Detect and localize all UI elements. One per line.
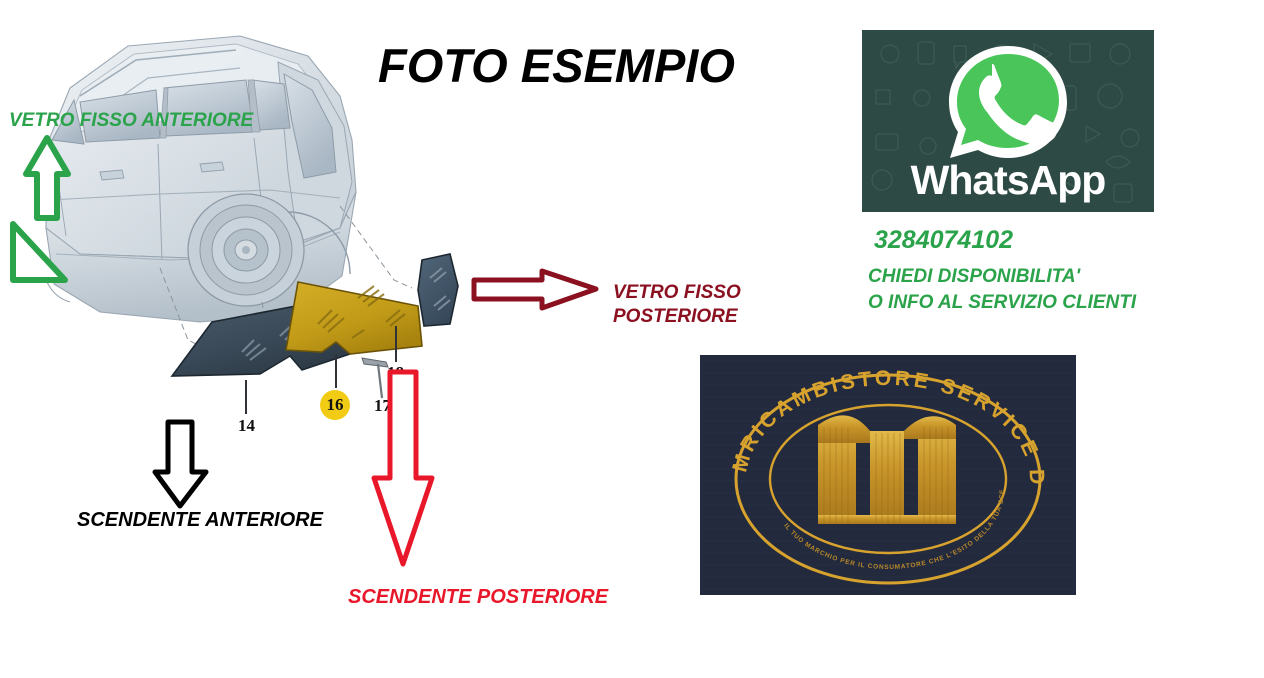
- whatsapp-wordmark: WhatsApp: [862, 157, 1154, 204]
- part-number-14: 14: [238, 416, 255, 436]
- label-scendente-anteriore: SCENDENTE ANTERIORE: [77, 509, 323, 532]
- down-arrow-black-svg: [150, 418, 212, 510]
- company-logo-mark: MRICAMBISTORE SERVICE DI RUSSO MARCO IL …: [700, 355, 1076, 595]
- whatsapp-info-line1: CHIEDI DISPONIBILITA': [868, 264, 1136, 290]
- label-vetro-fisso-posteriore-line1: VETRO FISSO: [613, 281, 741, 305]
- up-arrow-green-svg: [6, 128, 78, 288]
- right-arrow-darkred-svg: [470, 268, 600, 312]
- logo-monogram: [818, 415, 956, 524]
- down-arrow-red-svg: [368, 368, 438, 568]
- whatsapp-info-text: CHIEDI DISPONIBILITA' O INFO AL SERVIZIO…: [868, 264, 1136, 315]
- label-vetro-fisso-anteriore: VETRO FISSO ANTERIORE: [9, 110, 253, 132]
- whatsapp-info-line2: O INFO AL SERVIZIO CLIENTI: [868, 290, 1136, 316]
- glass-part-16: [286, 282, 422, 354]
- down-arrow-black: [150, 418, 212, 510]
- triangle-green: [13, 224, 65, 280]
- label-scendente-posteriore: SCENDENTE POSTERIORE: [348, 586, 608, 609]
- up-arrow-green: [6, 128, 78, 288]
- down-arrow-red: [368, 368, 438, 568]
- car-door-handle-rear: [200, 162, 224, 172]
- company-logo-panel: MRICAMBISTORE SERVICE DI RUSSO MARCO IL …: [700, 355, 1076, 595]
- glass-part-18: [418, 254, 458, 326]
- whatsapp-banner: WhatsApp: [862, 30, 1154, 212]
- part-number-16-badge: 16: [320, 390, 350, 420]
- whatsapp-icon: [940, 42, 1076, 166]
- label-vetro-fisso-posteriore: VETRO FISSO POSTERIORE: [613, 281, 741, 329]
- whatsapp-phone-number[interactable]: 3284074102: [874, 226, 1013, 255]
- screenshot-canvas: 18 14 16 17 FOTO ESEMPIO VETRO FISSO ANT…: [0, 0, 1264, 678]
- label-vetro-fisso-posteriore-line2: POSTERIORE: [613, 305, 741, 329]
- car-door-handle-front: [100, 170, 124, 180]
- right-arrow-darkred: [470, 268, 600, 312]
- page-title: FOTO ESEMPIO: [378, 38, 735, 93]
